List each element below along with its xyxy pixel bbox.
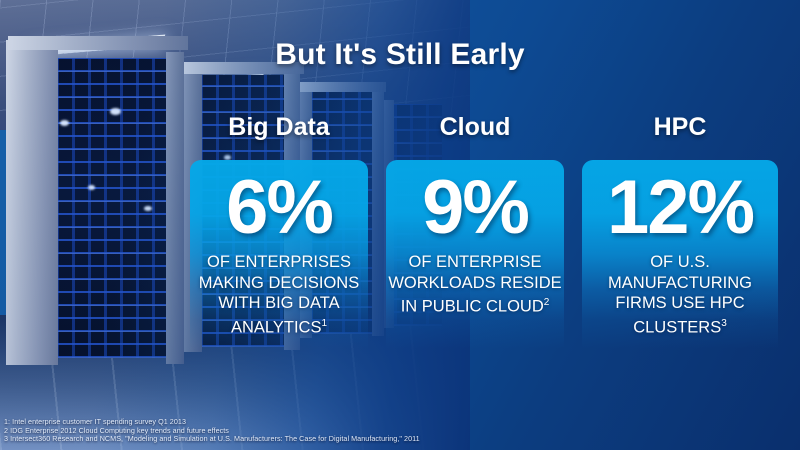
stat-card-hpc: HPC 12% OF U.S. MANUFACTURING FIRMS USE … bbox=[582, 112, 778, 362]
footnote-marker: 3 bbox=[721, 318, 727, 329]
stat-description-text: OF U.S. MANUFACTURING FIRMS USE HPC CLUS… bbox=[608, 253, 752, 336]
stat-card-panel: 6% OF ENTERPRISES MAKING DECISIONS WITH … bbox=[190, 160, 368, 365]
stat-card-heading: Big Data bbox=[190, 112, 368, 160]
footnotes: 1: Intel enterprise customer IT spending… bbox=[4, 418, 420, 443]
stat-card-heading: HPC bbox=[582, 112, 778, 160]
page-title: But It's Still Early bbox=[0, 38, 800, 72]
stat-card-cloud: Cloud 9% OF ENTERPRISE WORKLOADS RESIDE … bbox=[386, 112, 564, 362]
stat-card-panel: 9% OF ENTERPRISE WORKLOADS RESIDE IN PUB… bbox=[386, 160, 564, 365]
footnote-marker: 2 bbox=[544, 297, 550, 308]
stat-card-panel: 12% OF U.S. MANUFACTURING FIRMS USE HPC … bbox=[582, 160, 778, 365]
stat-value: 9% bbox=[386, 160, 564, 250]
footnote-marker: 1 bbox=[321, 318, 327, 329]
stat-card-group: Big Data 6% OF ENTERPRISES MAKING DECISI… bbox=[190, 112, 800, 362]
footnote-3: 3 Intersect360 Research and NCMS, "Model… bbox=[4, 435, 420, 443]
stat-description: OF ENTERPRISE WORKLOADS RESIDE IN PUBLIC… bbox=[386, 250, 564, 317]
slide: But It's Still Early Big Data 6% OF ENTE… bbox=[0, 0, 800, 450]
stat-description-text: OF ENTERPRISE WORKLOADS RESIDE IN PUBLIC… bbox=[388, 253, 561, 316]
stat-description: OF U.S. MANUFACTURING FIRMS USE HPC CLUS… bbox=[582, 250, 778, 338]
stat-card-heading: Cloud bbox=[386, 112, 564, 160]
stat-description: OF ENTERPRISES MAKING DECISIONS WITH BIG… bbox=[190, 250, 368, 338]
stat-value: 12% bbox=[582, 160, 778, 250]
stat-value: 6% bbox=[190, 160, 368, 250]
stat-card-big-data: Big Data 6% OF ENTERPRISES MAKING DECISI… bbox=[190, 112, 368, 362]
stat-description-text: OF ENTERPRISES MAKING DECISIONS WITH BIG… bbox=[199, 253, 359, 336]
